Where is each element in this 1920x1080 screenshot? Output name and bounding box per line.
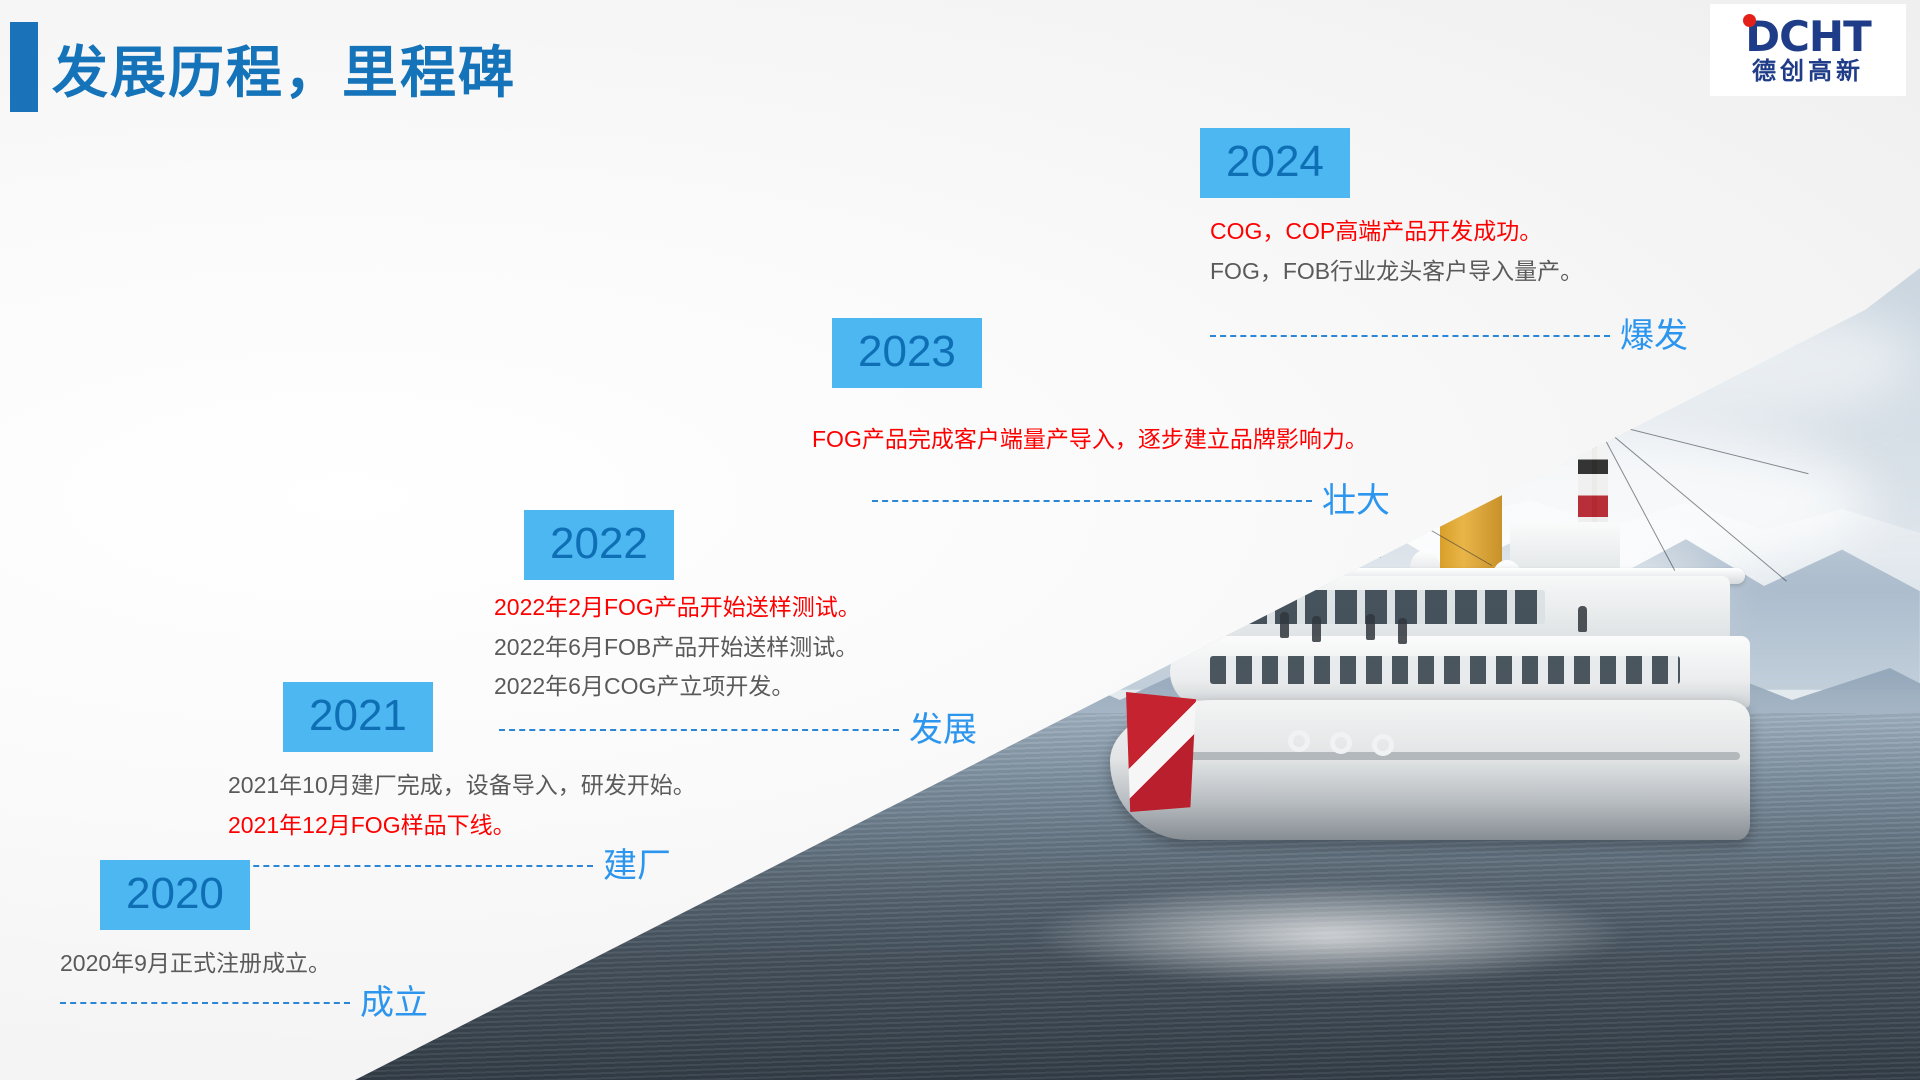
year-badge-2021[interactable]: 2021 bbox=[283, 682, 433, 752]
year-badge-2023[interactable]: 2023 bbox=[832, 318, 982, 388]
timeline-entry-2020: 2020 2020年9月正式注册成立。 成立 bbox=[100, 860, 428, 1020]
entry-line: FOG产品完成客户端量产导入，逐步建立品牌影响力。 bbox=[812, 420, 1390, 460]
entry-lines-2023: FOG产品完成客户端量产导入，逐步建立品牌影响力。 bbox=[812, 420, 1390, 460]
entry-line: FOG，FOB行业龙头客户导入量产。 bbox=[1210, 252, 1688, 292]
entry-line: 2022年6月FOB产品开始送样测试。 bbox=[494, 628, 977, 668]
page-title: 发展历程，里程碑 bbox=[52, 28, 516, 109]
stage-label-2022: 发展 bbox=[909, 713, 977, 747]
stage-label-2021: 建厂 bbox=[603, 849, 671, 883]
entry-line: 2022年2月FOG产品开始送样测试。 bbox=[494, 588, 977, 628]
entry-lines-2024: COG，COP高端产品开发成功。 FOG，FOB行业龙头客户导入量产。 bbox=[1210, 212, 1688, 291]
title-accent-bar bbox=[10, 22, 38, 112]
stage-row-2020: 成立 bbox=[60, 986, 428, 1020]
company-logo: DCHT 德创高新 bbox=[1710, 4, 1906, 96]
year-badge-2020[interactable]: 2020 bbox=[100, 860, 250, 930]
year-badge-2022[interactable]: 2022 bbox=[524, 510, 674, 580]
stage-label-2020: 成立 bbox=[360, 986, 428, 1020]
logo-wordmark-text: DCHT bbox=[1745, 12, 1871, 61]
entry-line: 2021年12月FOG样品下线。 bbox=[228, 806, 696, 846]
entry-line: 2020年9月正式注册成立。 bbox=[60, 944, 428, 984]
timeline-entry-2023: 2023 FOG产品完成客户端量产导入，逐步建立品牌影响力。 壮大 bbox=[832, 318, 1390, 518]
stage-dashed-line bbox=[872, 500, 1312, 502]
logo-chinese-name: 德创高新 bbox=[1752, 60, 1864, 84]
timeline-entry-2021: 2021 2021年10月建厂完成，设备导入，研发开始。 2021年12月FOG… bbox=[283, 682, 696, 883]
entry-line: 2021年10月建厂完成，设备导入，研发开始。 bbox=[228, 766, 696, 806]
entry-line: COG，COP高端产品开发成功。 bbox=[1210, 212, 1688, 252]
stage-label-2023: 壮大 bbox=[1322, 484, 1390, 518]
stage-label-2024: 爆发 bbox=[1620, 319, 1688, 353]
logo-wordmark: DCHT bbox=[1745, 16, 1871, 58]
slide-content: 发展历程，里程碑 DCHT 德创高新 2024 COG，COP高端产品开发成功。… bbox=[0, 0, 1920, 1080]
entry-lines-2020: 2020年9月正式注册成立。 bbox=[60, 944, 428, 984]
entry-lines-2021: 2021年10月建厂完成，设备导入，研发开始。 2021年12月FOG样品下线。 bbox=[228, 766, 696, 845]
stage-dashed-line bbox=[60, 1002, 350, 1004]
year-badge-2024[interactable]: 2024 bbox=[1200, 128, 1350, 198]
